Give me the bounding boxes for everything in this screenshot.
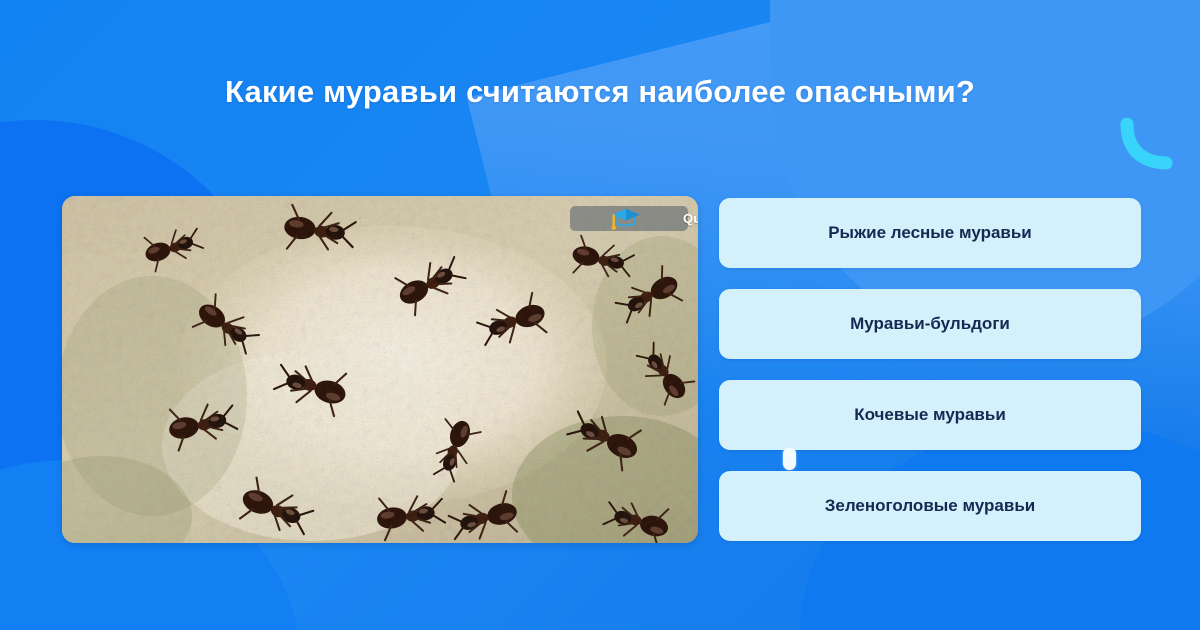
cursor-marker bbox=[783, 448, 796, 470]
answer-option-4[interactable]: Зеленоголовые муравьи bbox=[719, 471, 1141, 541]
question-image: QuizzClub bbox=[62, 196, 698, 543]
page-title: Какие муравьи считаются наиболее опасным… bbox=[0, 74, 1200, 110]
answer-option-2[interactable]: Муравьи-бульдоги bbox=[719, 289, 1141, 359]
answer-option-3-label: Кочевые муравьи bbox=[854, 405, 1006, 425]
watermark-brand: QuizzClub bbox=[683, 211, 698, 226]
graduation-cap-icon bbox=[575, 206, 677, 231]
ants-photo-illustration bbox=[62, 196, 698, 543]
answer-option-1[interactable]: Рыжие лесные муравьи bbox=[719, 198, 1141, 268]
answer-options-list: Рыжие лесные муравьи Муравьи-бульдоги Ко… bbox=[719, 198, 1141, 541]
answer-option-1-label: Рыжие лесные муравьи bbox=[828, 223, 1032, 243]
answer-option-3[interactable]: Кочевые муравьи bbox=[719, 380, 1141, 450]
answer-option-4-label: Зеленоголовые муравьи bbox=[825, 496, 1035, 516]
watermark-badge: QuizzClub bbox=[570, 206, 688, 231]
answer-option-2-label: Муравьи-бульдоги bbox=[850, 314, 1010, 334]
quiz-card: Какие муравьи считаются наиболее опасным… bbox=[0, 0, 1200, 630]
cyan-arc-icon bbox=[1118, 118, 1178, 174]
